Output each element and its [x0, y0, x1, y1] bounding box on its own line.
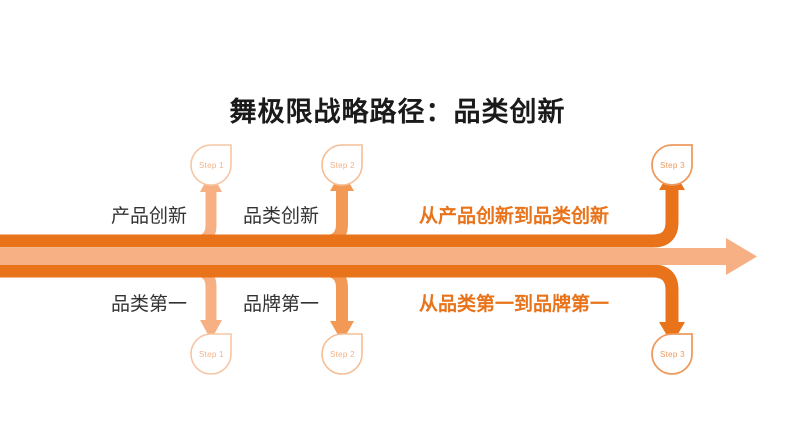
step-badge-bottom-2-label: Step 2 [330, 350, 355, 359]
step-badge-top-2-label: Step 2 [330, 161, 355, 170]
bottom-label-1: 品类第一 [111, 295, 187, 314]
step-badge-bottom-1-label: Step 1 [199, 350, 224, 359]
diagram-canvas: 舞极限战略路径：品类创新 产品创新 品类创新 从产品创新到品类创新 品类第一 品… [0, 0, 795, 446]
top-label-2: 品类创新 [243, 207, 319, 226]
top-label-1: 产品创新 [111, 207, 187, 226]
page-title: 舞极限战略路径：品类创新 [0, 90, 795, 129]
bottom-label-2: 品牌第一 [243, 295, 319, 314]
step-badge-bottom-3-label: Step 3 [660, 350, 685, 359]
top-label-3: 从产品创新到品类创新 [419, 207, 609, 226]
bottom-label-3: 从品类第一到品牌第一 [419, 295, 609, 314]
step-badge-top-1-label: Step 1 [199, 161, 224, 170]
step-badge-top-3-label: Step 3 [660, 161, 685, 170]
